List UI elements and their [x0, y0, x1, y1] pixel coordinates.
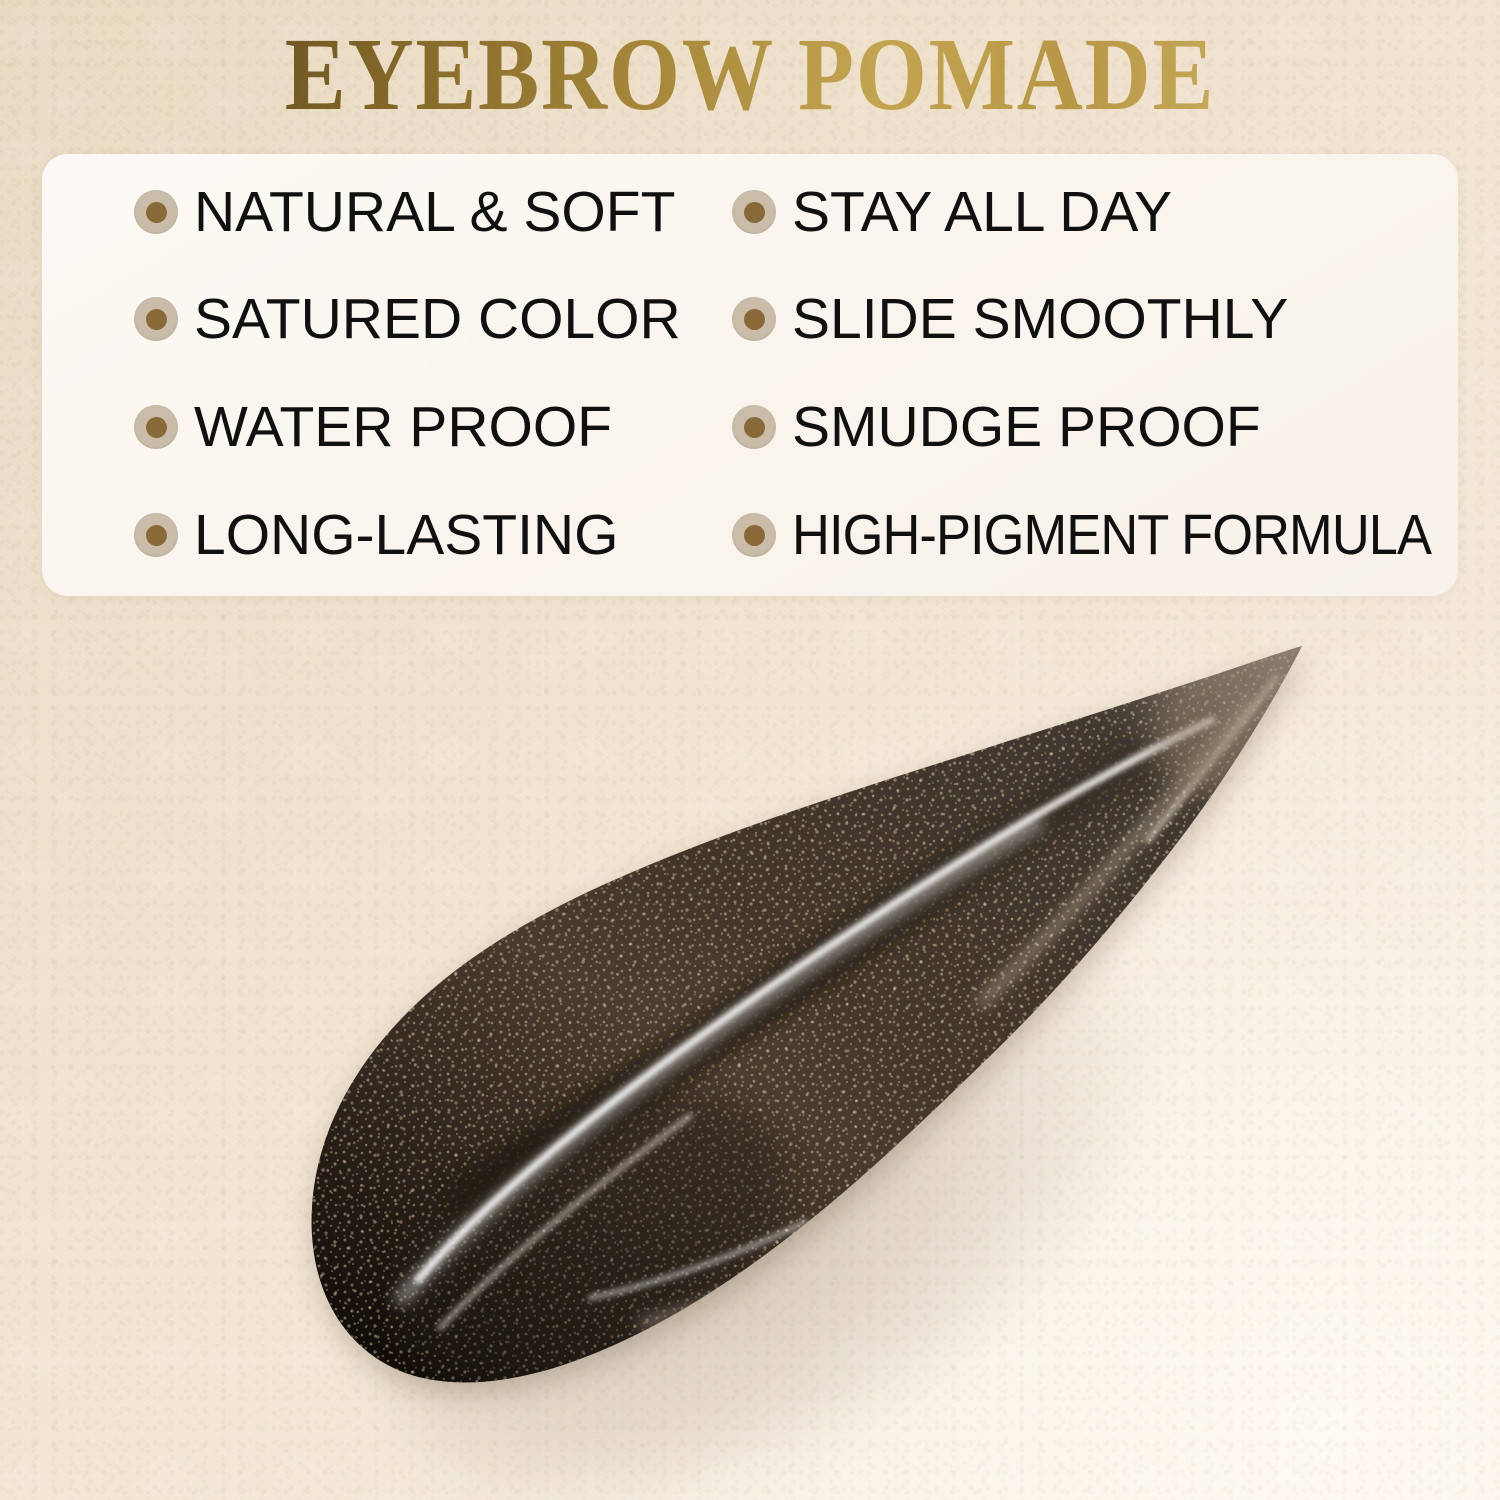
feature-label: WATER PROOF — [194, 397, 612, 457]
bullet-dot-icon — [732, 297, 776, 341]
bullet-dot-icon — [134, 513, 178, 557]
feature-card: NATURAL & SOFT STAY ALL DAY SATURED COLO… — [42, 154, 1458, 596]
list-item: SMUDGE PROOF — [732, 392, 1261, 462]
page-title: EYEBROW POMADE — [90, 22, 1410, 128]
feature-label: NATURAL & SOFT — [194, 182, 675, 242]
feature-label: SATURED COLOR — [194, 289, 681, 349]
bullet-dot-icon — [134, 190, 178, 234]
bullet-dot-icon — [732, 405, 776, 449]
swatch-body — [290, 638, 1320, 1468]
list-item: SLIDE SMOOTHLY — [732, 284, 1288, 354]
bullet-dot-icon — [134, 405, 178, 449]
list-item: HIGH-PIGMENT FORMULA — [732, 500, 1487, 570]
list-item: NATURAL & SOFT — [134, 177, 675, 247]
feature-label: LONG-LASTING — [194, 505, 618, 565]
list-item: STAY ALL DAY — [732, 177, 1172, 247]
bullet-dot-icon — [134, 297, 178, 341]
product-marketing-image: EYEBROW POMADE NATURAL & SOFT STAY ALL D… — [0, 0, 1500, 1500]
product-swatch — [250, 610, 1380, 1490]
feature-label: HIGH-PIGMENT FORMULA — [792, 505, 1431, 565]
feature-label: STAY ALL DAY — [792, 182, 1172, 242]
feature-label: SLIDE SMOOTHLY — [792, 289, 1288, 349]
list-item: LONG-LASTING — [134, 500, 618, 570]
feature-label: SMUDGE PROOF — [792, 397, 1261, 457]
list-item: WATER PROOF — [134, 392, 612, 462]
list-item: SATURED COLOR — [134, 284, 681, 354]
bullet-dot-icon — [732, 513, 776, 557]
bullet-dot-icon — [732, 190, 776, 234]
